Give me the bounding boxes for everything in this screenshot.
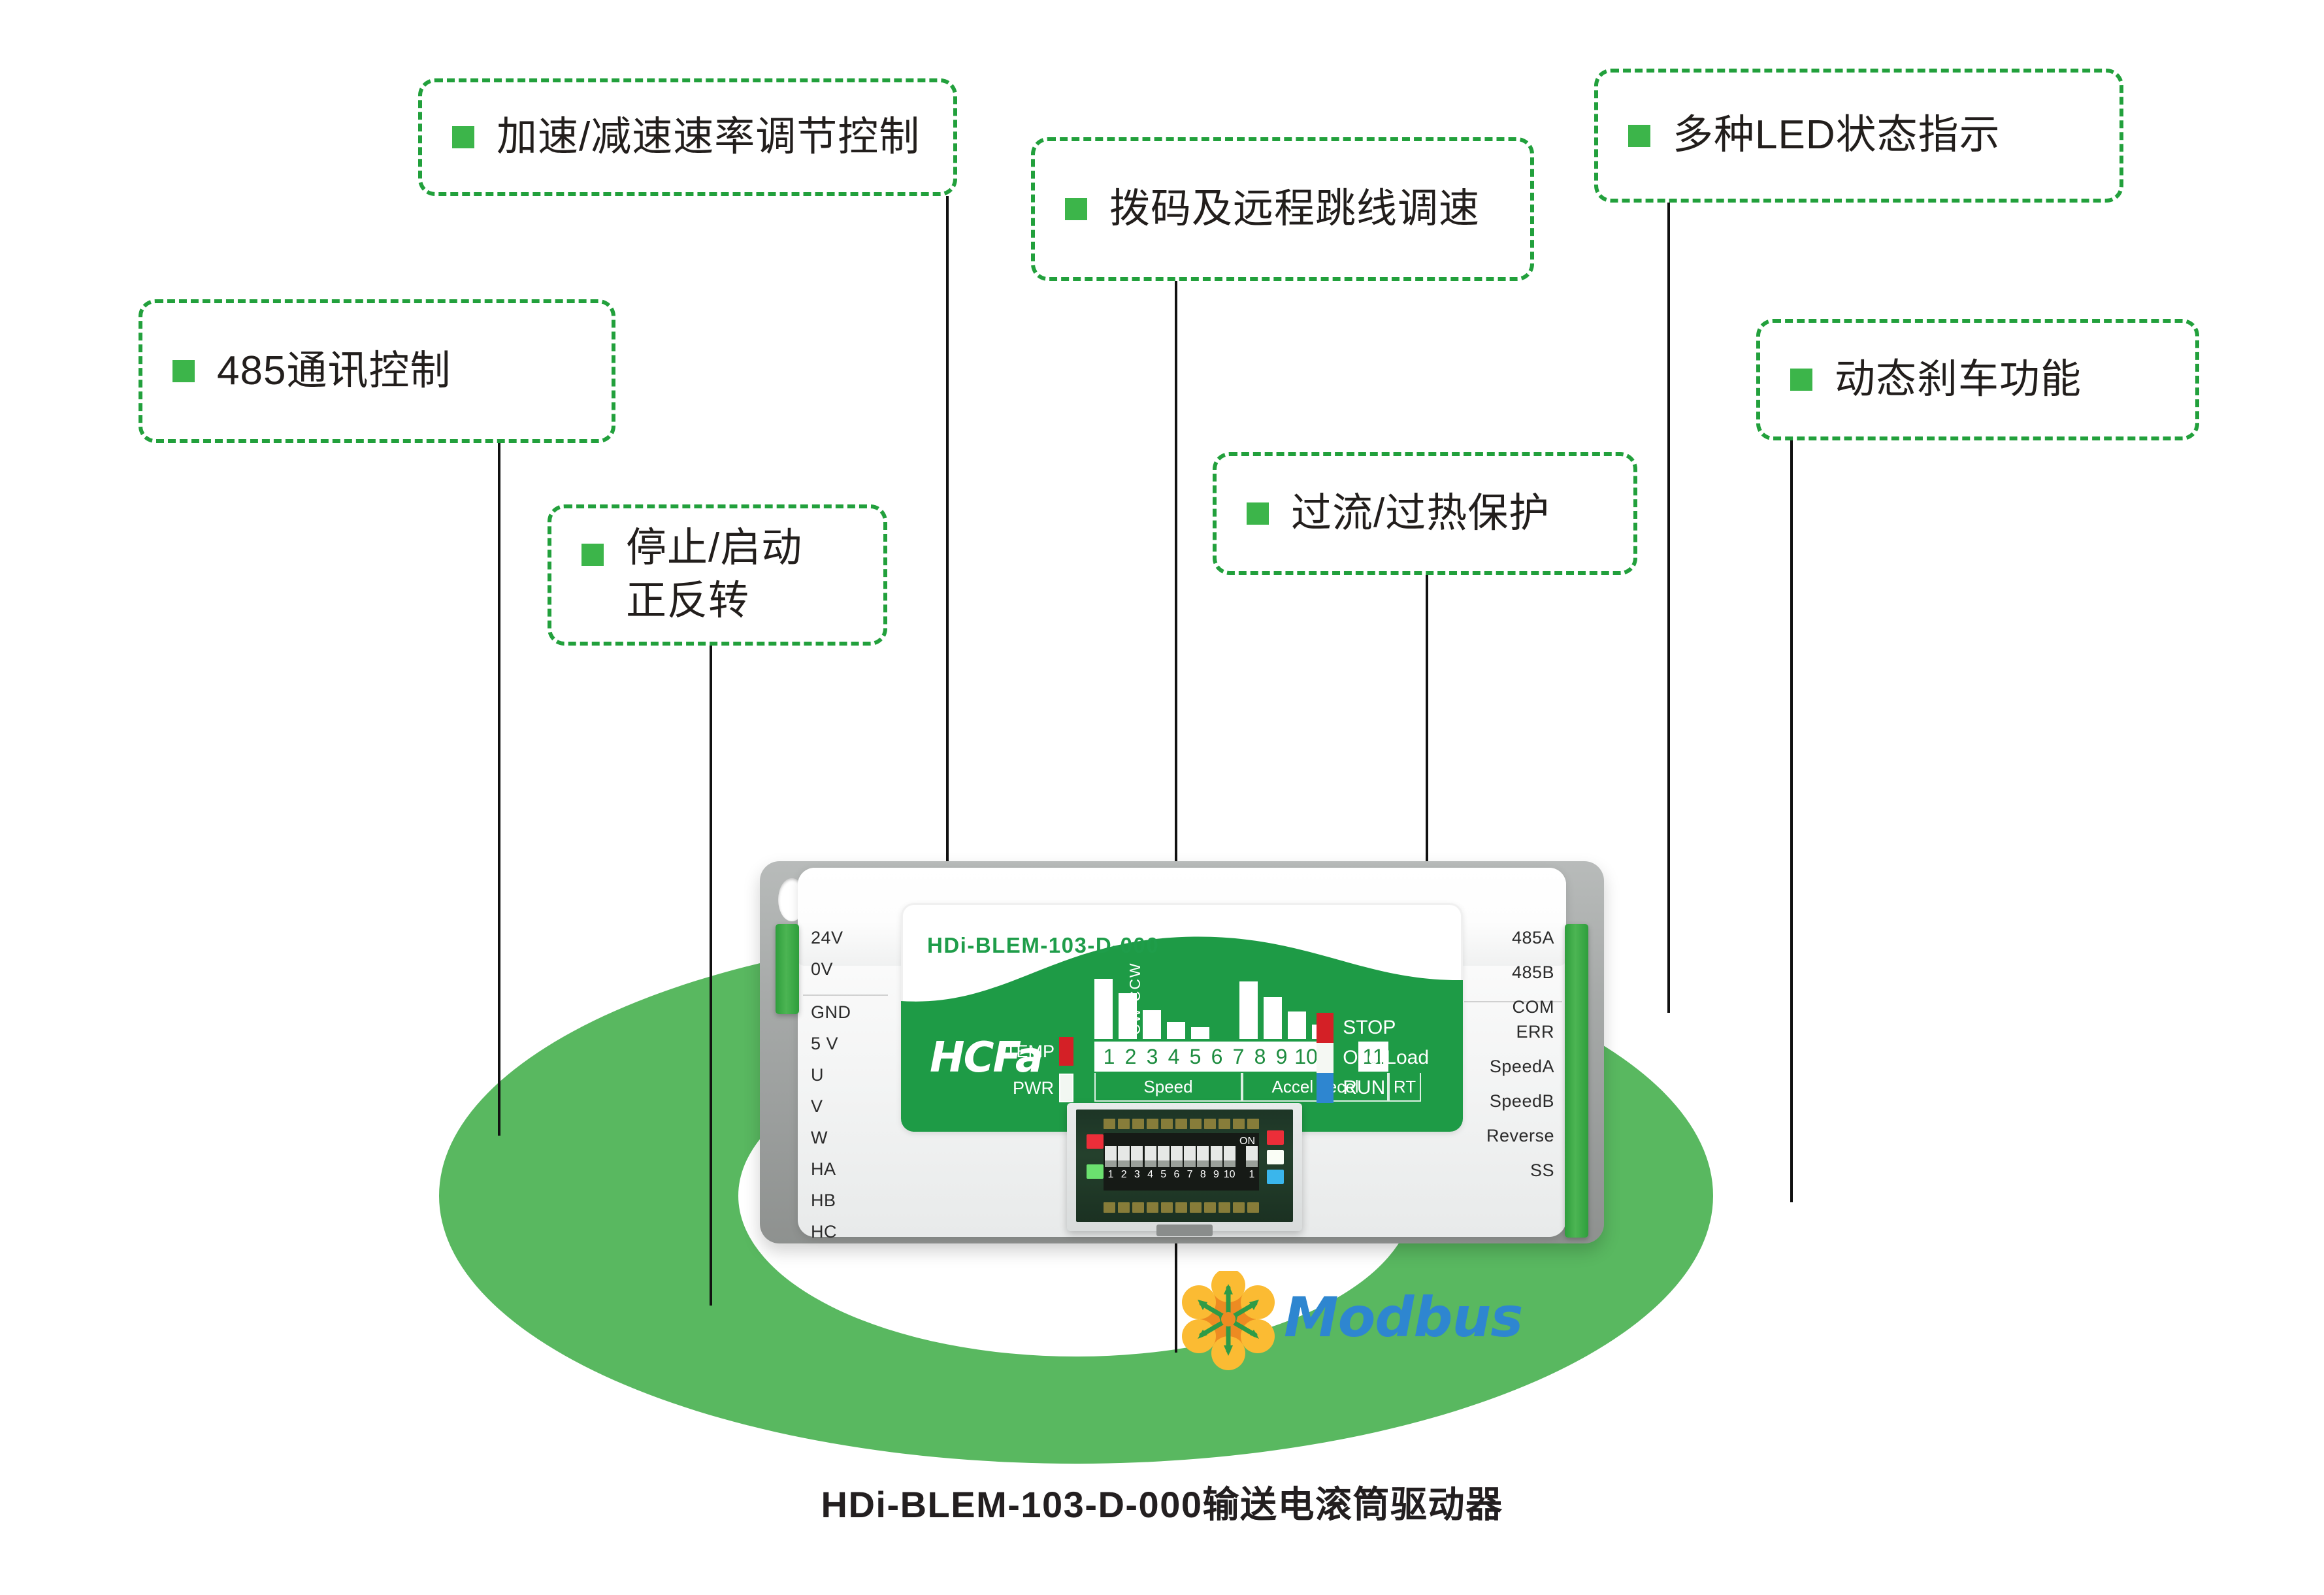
- dip-switch[interactable]: 4: [1145, 1146, 1156, 1181]
- terminal-labels-left-motor: GND 5 V U V W HA HB HC: [811, 1004, 851, 1255]
- pwr-indicator-row: PWR: [1006, 1073, 1073, 1103]
- terminal-label: W: [811, 1129, 851, 1147]
- terminal-label: 485B: [1512, 964, 1554, 981]
- overload-led-icon: [1317, 1043, 1334, 1073]
- solder-pad: [1190, 1119, 1202, 1129]
- dip-switch-number: 9: [1211, 1169, 1222, 1181]
- callout-stop-start-fwd-rev[interactable]: 停止/启动 正反转: [548, 504, 887, 646]
- dip-switch-row[interactable]: 1 2 3 4 5 6 7 8 9 10 1: [1105, 1146, 1258, 1181]
- bar: [1143, 1010, 1161, 1039]
- callout-rs485-comm[interactable]: 485通讯控制: [139, 299, 615, 443]
- bullet-square-icon: [1790, 369, 1812, 391]
- bullet-square-icon: [1065, 198, 1087, 220]
- solder-pad: [1219, 1202, 1230, 1213]
- solder-pad: [1147, 1119, 1158, 1129]
- connector-strip-right[interactable]: [1565, 924, 1588, 1238]
- scale-number: 6: [1206, 1045, 1228, 1069]
- dip-switch-number: 3: [1131, 1169, 1143, 1181]
- pwr-label: PWR: [1006, 1078, 1054, 1098]
- temp-label: TEMP: [1006, 1042, 1054, 1062]
- status-label: RUN: [1343, 1073, 1429, 1103]
- bar: [1167, 1022, 1185, 1039]
- dip-pcb: ON 1 2 3 4 5 6 7 8 9 10 1: [1076, 1110, 1293, 1222]
- solder-pad: [1219, 1119, 1230, 1129]
- dip-switch-extra[interactable]: 1: [1246, 1146, 1258, 1181]
- dip-switch-number: 8: [1197, 1169, 1209, 1181]
- solder-pad: [1247, 1119, 1259, 1129]
- callout-text: 加速/减速速率调节控制: [497, 111, 920, 164]
- solder-pad: [1132, 1202, 1144, 1213]
- dip-led-blue-right: [1267, 1170, 1284, 1184]
- terminal-labels-right-io: ERR SpeedA SpeedB Reverse SS: [1486, 1023, 1554, 1196]
- modbus-logo: Modbus: [1173, 1271, 1539, 1382]
- callout-overcurrent-thermal[interactable]: 过流/过热保护: [1213, 452, 1637, 575]
- solder-pad: [1233, 1202, 1245, 1213]
- terminal-separator-left: [803, 995, 888, 996]
- terminal-label: 5 V: [811, 1035, 851, 1053]
- callout-accel-decel-rate[interactable]: 加速/减速速率调节控制: [418, 78, 957, 196]
- temp-pwr-indicators: TEMP PWR: [1006, 1036, 1073, 1103]
- dip-switch[interactable]: 8: [1197, 1146, 1209, 1181]
- dip-switch[interactable]: 10: [1224, 1146, 1236, 1181]
- status-label: STOP: [1343, 1013, 1429, 1043]
- caption-speed: Speed: [1094, 1073, 1242, 1102]
- stop-led-icon: [1317, 1013, 1334, 1043]
- dip-led-white-right: [1267, 1150, 1284, 1164]
- dip-module-tab: [1156, 1225, 1213, 1236]
- leader-line-multi-led: [1667, 203, 1670, 1013]
- leader-line-dynamic-brake: [1790, 438, 1793, 1202]
- bar: [1239, 981, 1258, 1039]
- callout-text: 拨码及远程跳线调速: [1109, 183, 1480, 236]
- solder-pad: [1204, 1119, 1216, 1129]
- dip-switch-number: 10: [1224, 1169, 1236, 1181]
- solder-pad: [1104, 1119, 1115, 1129]
- dip-switch[interactable]: 9: [1211, 1146, 1222, 1181]
- connector-strip-left[interactable]: [776, 924, 799, 1014]
- callout-text: 多种LED状态指示: [1673, 109, 2001, 162]
- scale-number: 9: [1271, 1045, 1292, 1069]
- terminal-label: SS: [1486, 1162, 1554, 1179]
- temp-led-icon: [1059, 1037, 1073, 1066]
- terminal-label: HC: [811, 1223, 851, 1241]
- terminal-label: U: [811, 1066, 851, 1084]
- terminal-label: COM: [1512, 998, 1554, 1016]
- modbus-wordmark: Modbus: [1284, 1285, 1522, 1349]
- dip-switch-number: 1: [1246, 1169, 1258, 1181]
- solder-pad-row-top: [1104, 1119, 1259, 1129]
- bar: [1191, 1027, 1209, 1039]
- rotation-direction-label: CW CCW: [1126, 962, 1144, 1035]
- bullet-square-icon: [452, 126, 474, 148]
- callout-dip-remote-jumper[interactable]: 拨码及远程跳线调速: [1031, 137, 1534, 281]
- solder-pad: [1132, 1119, 1144, 1129]
- leader-line-rs485: [498, 443, 500, 1136]
- solder-pad: [1161, 1202, 1173, 1213]
- modbus-flower-icon: [1173, 1271, 1284, 1382]
- callout-text: 485通讯控制: [217, 345, 451, 398]
- terminal-label: 24V: [811, 929, 843, 947]
- terminal-label: ERR: [1486, 1023, 1554, 1041]
- pwr-led-icon: [1059, 1074, 1073, 1102]
- dip-switch[interactable]: 5: [1158, 1146, 1170, 1181]
- scale-number: 10: [1292, 1045, 1320, 1069]
- dip-switch[interactable]: 3: [1131, 1146, 1143, 1181]
- driver-device[interactable]: 24V 0V GND 5 V U V W HA HB HC 485A 485B …: [760, 861, 1604, 1243]
- terminal-label: SpeedB: [1486, 1093, 1554, 1110]
- solder-pad: [1118, 1202, 1130, 1213]
- scale-number: 7: [1228, 1045, 1249, 1069]
- solder-pad: [1175, 1119, 1187, 1129]
- bullet-square-icon: [1628, 125, 1650, 147]
- dip-switch-number: 4: [1145, 1169, 1156, 1181]
- solder-pad: [1161, 1119, 1173, 1129]
- terminal-label: 0V: [811, 961, 843, 978]
- dip-switch-number: 5: [1158, 1169, 1170, 1181]
- model-number: HDi-BLEM-103-D-000: [927, 933, 1159, 958]
- solder-pad: [1147, 1202, 1158, 1213]
- terminal-label: HA: [811, 1160, 851, 1178]
- dip-switch-number: 7: [1184, 1169, 1196, 1181]
- dip-switch[interactable]: 1: [1105, 1146, 1117, 1181]
- terminal-label: V: [811, 1098, 851, 1115]
- callout-text: 停止/启动 正反转: [626, 522, 802, 627]
- scale-number: 3: [1141, 1045, 1163, 1069]
- solder-pad: [1233, 1119, 1245, 1129]
- scale-number: 8: [1249, 1045, 1271, 1069]
- callout-multi-led-status[interactable]: 多种LED状态指示: [1594, 69, 2123, 203]
- dip-switch-number: 1: [1105, 1169, 1117, 1181]
- solder-pad: [1190, 1202, 1202, 1213]
- dip-switch[interactable]: 2: [1118, 1146, 1130, 1181]
- solder-pad: [1175, 1202, 1187, 1213]
- status-led-group: STOP OverLoad RUN: [1317, 1013, 1429, 1103]
- terminal-label: 485A: [1512, 929, 1554, 947]
- dip-switch-module[interactable]: ON 1 2 3 4 5 6 7 8 9 10 1: [1067, 1103, 1302, 1231]
- bullet-square-icon: [581, 544, 604, 566]
- terminal-labels-left-power: 24V 0V: [811, 929, 843, 992]
- dip-led-green-left: [1087, 1164, 1104, 1179]
- bar: [1264, 997, 1282, 1039]
- status-led-strip: [1317, 1013, 1334, 1103]
- leader-line-stop-start: [710, 646, 712, 1306]
- solder-pad: [1118, 1119, 1130, 1129]
- bar: [1288, 1011, 1306, 1039]
- solder-pad-row-bottom: [1104, 1202, 1259, 1213]
- front-label-plate: HDi-BLEM-103-D-000 HCFa CW CCW TEMP PWR: [901, 903, 1463, 1132]
- status-led-labels: STOP OverLoad RUN: [1343, 1013, 1429, 1103]
- dip-led-red-right: [1267, 1130, 1284, 1145]
- callout-text: 过流/过热保护: [1291, 487, 1550, 540]
- dip-on-label: ON: [1239, 1136, 1255, 1147]
- scale-number: 4: [1163, 1045, 1185, 1069]
- callout-dynamic-brake[interactable]: 动态刹车功能: [1756, 319, 2199, 440]
- bullet-square-icon: [1247, 502, 1269, 525]
- scale-number-strip: 1 2 3 4 5 6 7 8 9 10: [1094, 1042, 1324, 1072]
- solder-pad: [1204, 1202, 1216, 1213]
- scale-number: 1: [1098, 1045, 1120, 1069]
- dip-switch-number: 2: [1118, 1169, 1130, 1181]
- temp-indicator-row: TEMP: [1006, 1036, 1073, 1066]
- bar: [1094, 979, 1113, 1039]
- page-caption: HDi-BLEM-103-D-000输送电滚筒驱动器: [0, 1475, 2324, 1528]
- status-label: OverLoad: [1343, 1043, 1429, 1073]
- dip-switch[interactable]: 7: [1184, 1146, 1196, 1181]
- terminal-labels-right-comm: 485A 485B COM: [1512, 929, 1554, 1033]
- terminal-label: SpeedA: [1486, 1058, 1554, 1076]
- dip-switch-number: 6: [1171, 1169, 1183, 1181]
- dip-switch[interactable]: 6: [1171, 1146, 1183, 1181]
- dip-led-red-left: [1087, 1134, 1104, 1149]
- terminal-label: HB: [811, 1192, 851, 1209]
- scale-number: 5: [1185, 1045, 1206, 1069]
- run-led-icon: [1317, 1073, 1334, 1103]
- callout-text: 动态刹车功能: [1835, 354, 2082, 406]
- solder-pad: [1247, 1202, 1259, 1213]
- scale-number: 2: [1120, 1045, 1141, 1069]
- bullet-square-icon: [172, 360, 195, 382]
- terminal-label: GND: [811, 1004, 851, 1021]
- solder-pad: [1104, 1202, 1115, 1213]
- terminal-label: Reverse: [1486, 1127, 1554, 1145]
